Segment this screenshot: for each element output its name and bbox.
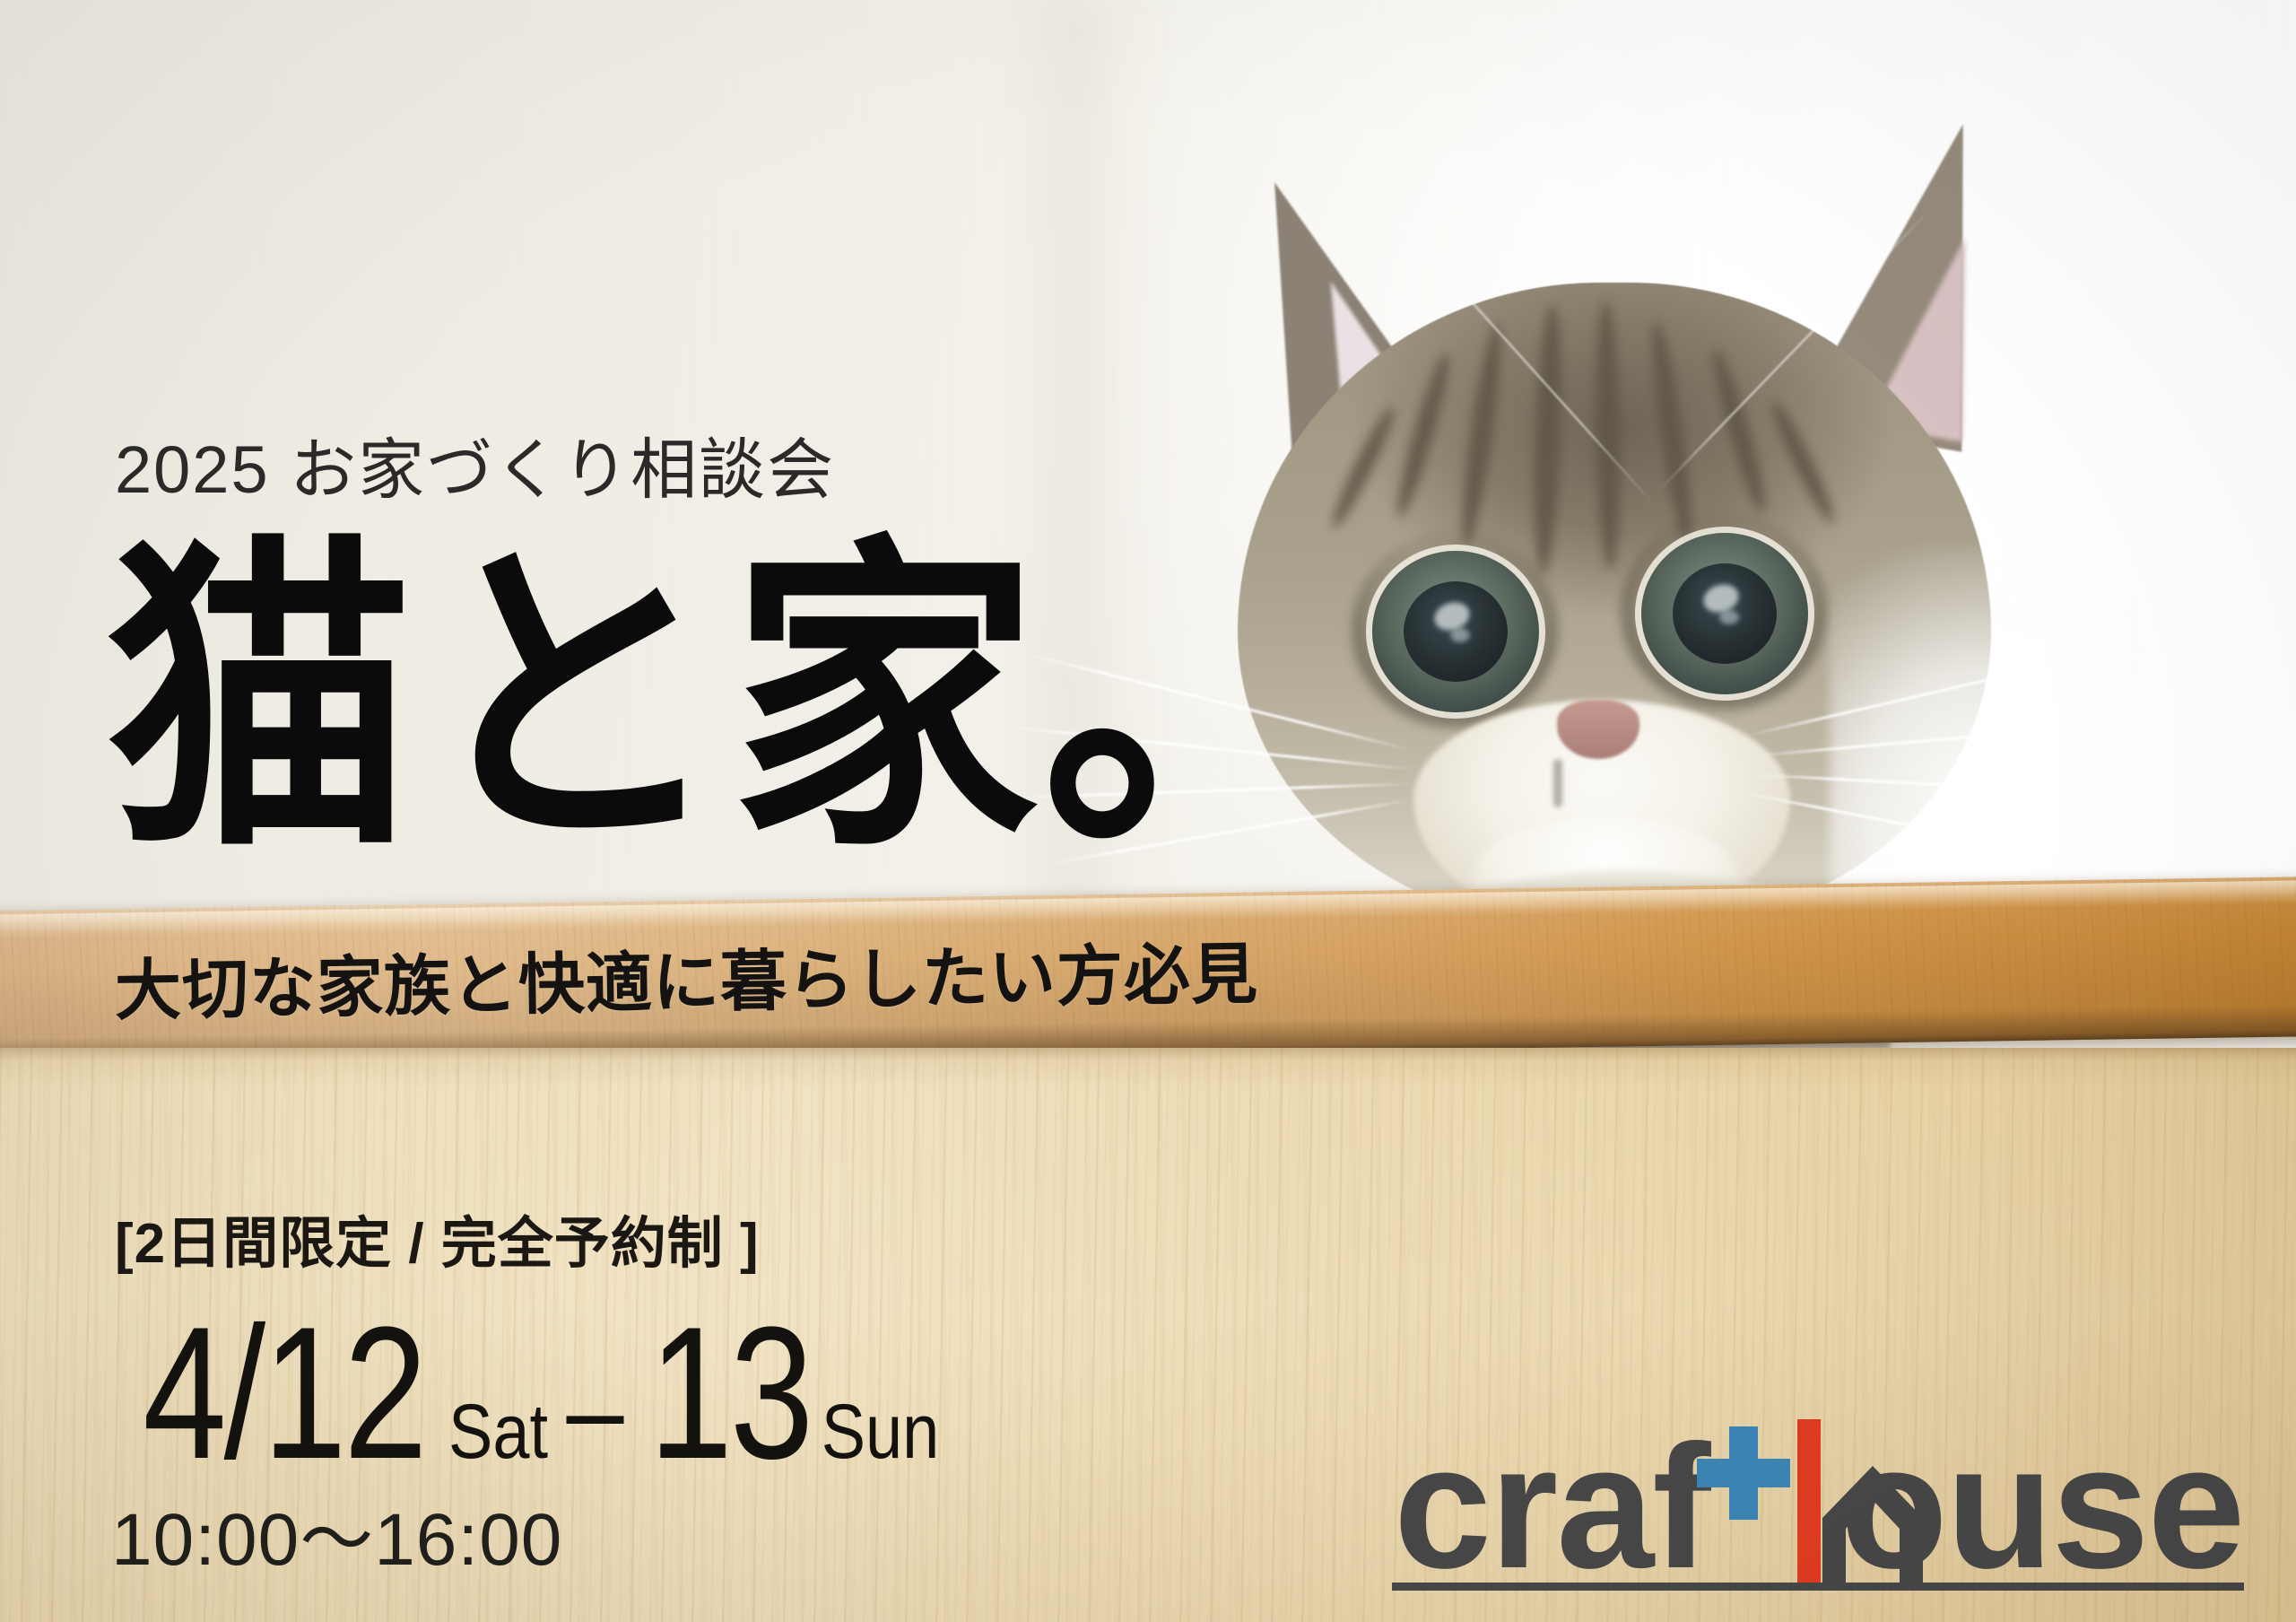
logo-text-craf: craf <box>1394 1419 1709 1595</box>
page-title: 猫と家。 <box>106 536 1354 864</box>
event-kicker: 2025 お家づくり相談会 <box>115 437 835 503</box>
event-end-weekday: Sun <box>821 1393 939 1470</box>
cat-left-pupil <box>1404 581 1508 682</box>
event-date: 4/12 Sat – 13 Sun <box>108 1299 949 1487</box>
event-end-date: 13 <box>649 1299 811 1487</box>
event-start-date: 4/12 <box>143 1299 424 1487</box>
cat-right-eye <box>1641 533 1808 694</box>
cat-left-eye-glint-small <box>1450 628 1470 642</box>
poster-canvas: 2025 お家づくり相談会 猫と家。 大切な家族と快適に暮らしたい方必見 [2日… <box>0 0 2296 1622</box>
cat-right-eye-glint-small <box>1719 610 1739 624</box>
logo-text-ouse: ouse <box>1840 1419 2243 1595</box>
craft-house-logo[interactable]: craf ouse <box>1392 1400 2257 1611</box>
limited-availability-note: [2日間限定 / 完全予約制 ] <box>115 1216 760 1272</box>
date-range-separator: – <box>566 1353 623 1468</box>
event-subline: 大切な家族と快適に暮らしたい方必見 <box>114 941 1258 1025</box>
cat-left-eye <box>1372 551 1539 712</box>
cat-mouth <box>1553 759 1562 807</box>
plus-icon <box>1697 1426 1790 1520</box>
logo-baseline-rule <box>1392 1583 2244 1591</box>
event-time: 10:00〜16:00 <box>111 1504 562 1577</box>
event-start-weekday: Sat <box>448 1393 548 1470</box>
cat-right-pupil <box>1673 563 1777 664</box>
